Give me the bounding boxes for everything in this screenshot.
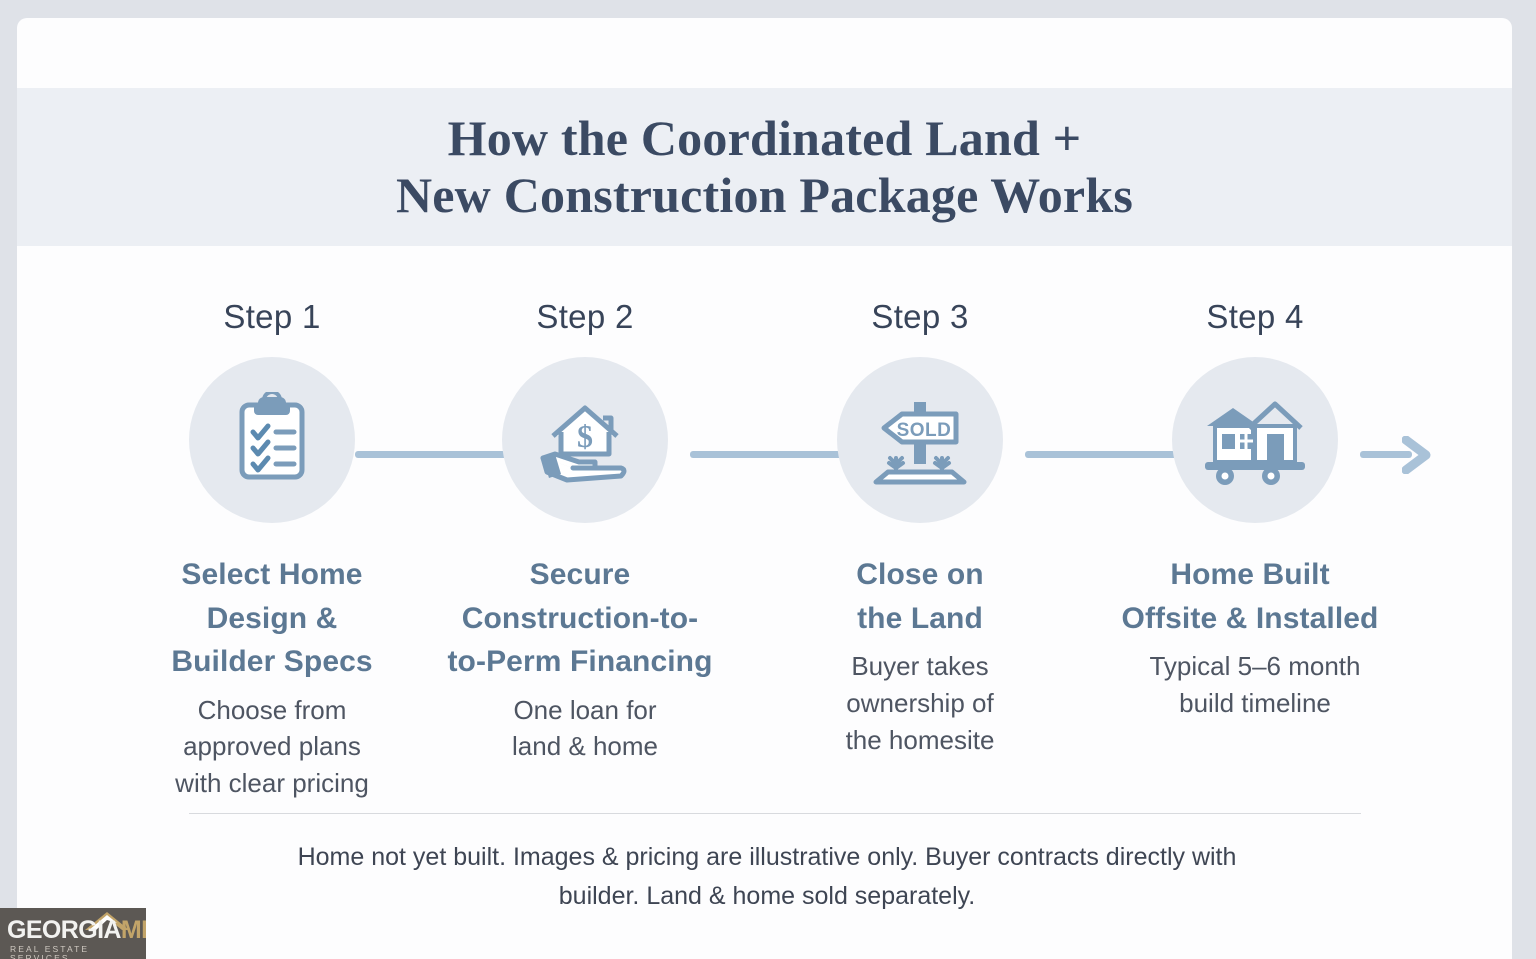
- disclaimer-text: Home not yet built. Images & pricing are…: [167, 838, 1367, 916]
- step-3[interactable]: Step 3 SOLD Close on the Land Buyer take…: [770, 276, 1070, 759]
- logo-wordmark: GEORGIAMLS: [7, 918, 146, 943]
- georgia-mls-logo[interactable]: GEORGIAMLS REAL ESTATE SERVICES: [0, 908, 146, 959]
- svg-text:SOLD: SOLD: [897, 420, 952, 441]
- svg-text:$: $: [577, 418, 593, 454]
- footer-divider: [189, 813, 1361, 814]
- step-1-icon-circle: [189, 357, 355, 523]
- logo-tagline: REAL ESTATE SERVICES: [10, 945, 146, 959]
- step-1[interactable]: Step 1 Select Home Des: [122, 276, 422, 802]
- step-4-icon-circle: [1172, 357, 1338, 523]
- step-4-title: Home Built Offsite & Installed: [1090, 553, 1410, 640]
- step-4-desc: Typical 5–6 month build timeline: [1110, 648, 1400, 722]
- step-3-desc: Buyer takes ownership of the homesite: [775, 648, 1065, 759]
- step-4[interactable]: Step 4: [1105, 276, 1405, 722]
- logo-accent-text: MLS: [121, 916, 146, 944]
- arrow-right-icon: [1402, 436, 1442, 474]
- step-2[interactable]: Step 2 $ Secure Construction-to- to-Perm…: [435, 276, 735, 765]
- hand-holding-house-dollar-icon: $: [533, 392, 637, 488]
- steps-row: Step 1 Select Home Des: [17, 276, 1512, 796]
- step-1-title: Select Home Design & Builder Specs: [147, 553, 397, 684]
- page-title: How the Coordinated Land + New Construct…: [396, 110, 1133, 225]
- infographic-root: How the Coordinated Land + New Construct…: [0, 0, 1536, 959]
- step-3-label: Step 3: [770, 300, 1070, 333]
- logo-primary-text: GEORGIA: [7, 916, 121, 944]
- step-3-title: Close on the Land: [795, 553, 1045, 640]
- infographic-card: How the Coordinated Land + New Construct…: [17, 18, 1512, 959]
- step-1-desc: Choose from approved plans with clear pr…: [127, 692, 417, 803]
- house-on-wheels-icon: [1199, 394, 1311, 486]
- step-1-label: Step 1: [122, 300, 422, 333]
- step-2-desc: One loan for land & home: [440, 692, 730, 766]
- sold-sign-icon: SOLD: [870, 392, 970, 488]
- step-2-label: Step 2: [435, 300, 735, 333]
- step-3-icon-circle: SOLD: [837, 357, 1003, 523]
- step-2-icon-circle: $: [502, 357, 668, 523]
- clipboard-checklist-icon: [224, 392, 320, 488]
- step-4-label: Step 4: [1105, 300, 1405, 333]
- title-band: How the Coordinated Land + New Construct…: [17, 88, 1512, 246]
- step-2-title: Secure Construction-to- to-Perm Financin…: [420, 553, 740, 684]
